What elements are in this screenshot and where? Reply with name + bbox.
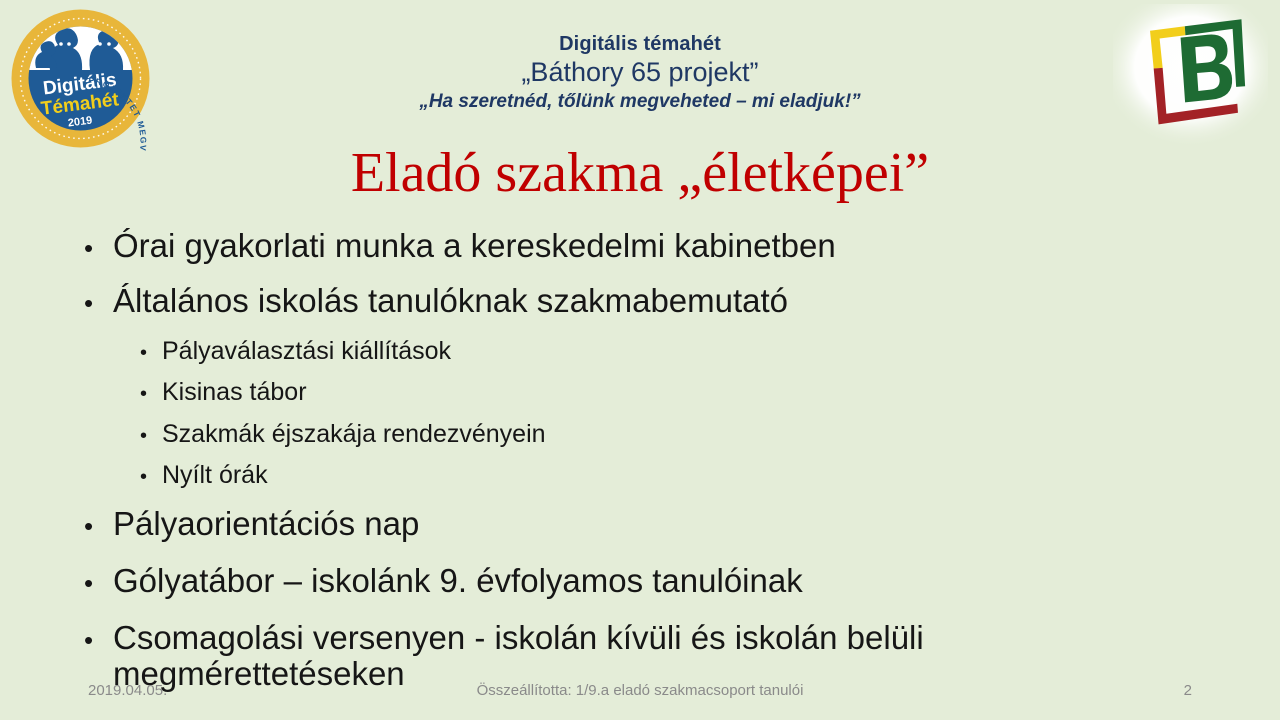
bullet-point-icon: •	[84, 283, 113, 316]
bullet-point-icon: •	[84, 228, 113, 261]
slide-header: Digitális témahét „Báthory 65 projekt” „…	[240, 33, 1040, 112]
bullet-point-icon: •	[140, 379, 162, 404]
list-item-label: Általános iskolás tanulóknak szakmabemut…	[113, 283, 1194, 319]
footer-attribution: Összeállította: 1/9.a eladó szakmacsopor…	[0, 682, 1280, 699]
digitalis-temahet-badge-icon: Digitális Témahét 2019 PROJEKTET MEGVALÓ…	[8, 6, 153, 151]
list-item: • Pályaorientációs nap	[84, 506, 1194, 542]
list-item-label: Gólyatábor – iskolánk 9. évfolyamos tanu…	[113, 563, 1194, 599]
list-item: • Általános iskolás tanulóknak szakmabem…	[84, 283, 1194, 319]
presentation-slide: Digitális Témahét 2019 PROJEKTET MEGVALÓ…	[0, 0, 1280, 720]
bullet-point-icon: •	[140, 338, 162, 363]
bullet-point-icon: •	[140, 462, 162, 487]
list-item-label: Pályaorientációs nap	[113, 506, 1194, 542]
bullet-point-icon: •	[84, 563, 113, 596]
bullet-point-icon: •	[84, 506, 113, 539]
list-item-label: Szakmák éjszakája rendezvényein	[162, 421, 1194, 449]
bullet-point-icon: •	[84, 620, 113, 653]
header-line-3: „Ha szeretnéd, tőlünk megveheted – mi el…	[240, 91, 1040, 112]
bullet-point-icon: •	[140, 421, 162, 446]
sub-bullet-group: • Pályaválasztási kiállítások • Kisinas …	[84, 338, 1194, 490]
page-title: Eladó szakma „életképei”	[100, 144, 1180, 203]
header-line-1: Digitális témahét	[240, 33, 1040, 55]
bathory-b-logo-icon	[1113, 4, 1268, 144]
content-bullet-list: • Órai gyakorlati munka a kereskedelmi k…	[84, 228, 1194, 712]
list-item: • Órai gyakorlati munka a kereskedelmi k…	[84, 228, 1194, 264]
list-item-label: Nyílt órák	[162, 462, 1194, 490]
slide-number: 2	[1184, 682, 1192, 699]
header-line-2: „Báthory 65 projekt”	[240, 57, 1040, 87]
list-item: • Gólyatábor – iskolánk 9. évfolyamos ta…	[84, 563, 1194, 599]
list-item: • Pályaválasztási kiállítások	[84, 338, 1194, 366]
list-item-label: Pályaválasztási kiállítások	[162, 338, 1194, 366]
list-item: • Nyílt órák	[84, 462, 1194, 490]
list-item: • Kisinas tábor	[84, 379, 1194, 407]
list-item-label: Órai gyakorlati munka a kereskedelmi kab…	[113, 228, 1194, 264]
list-item-label: Kisinas tábor	[162, 379, 1194, 407]
list-item: • Szakmák éjszakája rendezvényein	[84, 421, 1194, 449]
slide-footer: 2019.04.05. Összeállította: 1/9.a eladó …	[0, 682, 1280, 706]
